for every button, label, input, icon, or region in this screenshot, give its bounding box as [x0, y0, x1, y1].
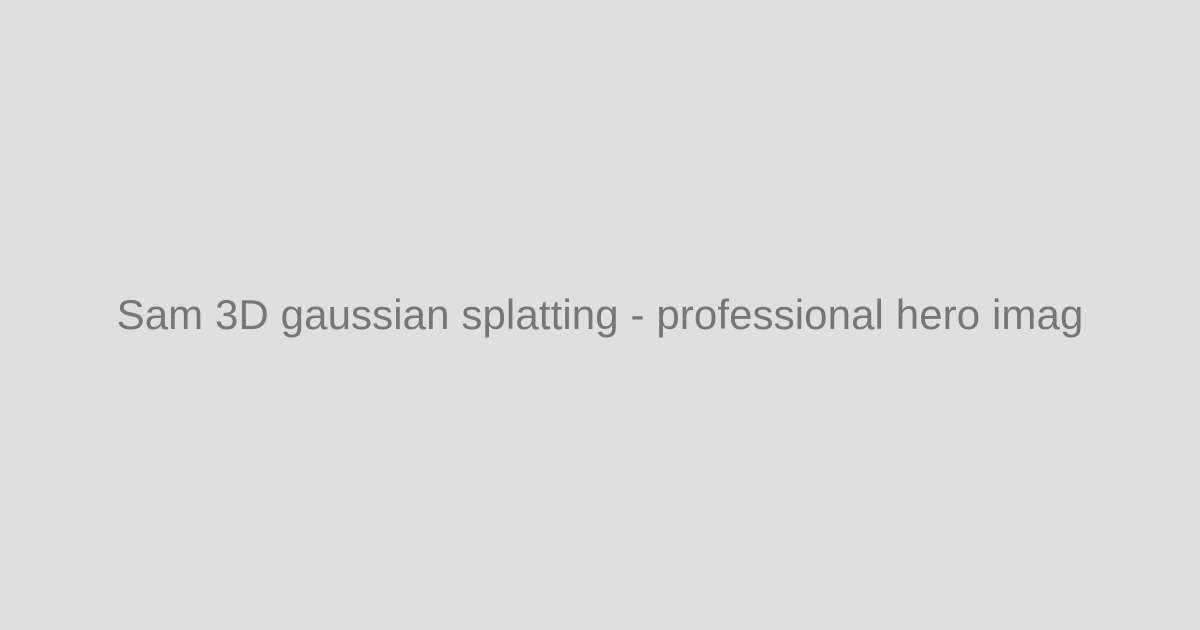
placeholder-image-canvas: Sam 3D gaussian splatting - professional… [0, 0, 1200, 630]
placeholder-caption-text: Sam 3D gaussian splatting - professional… [117, 294, 1084, 336]
